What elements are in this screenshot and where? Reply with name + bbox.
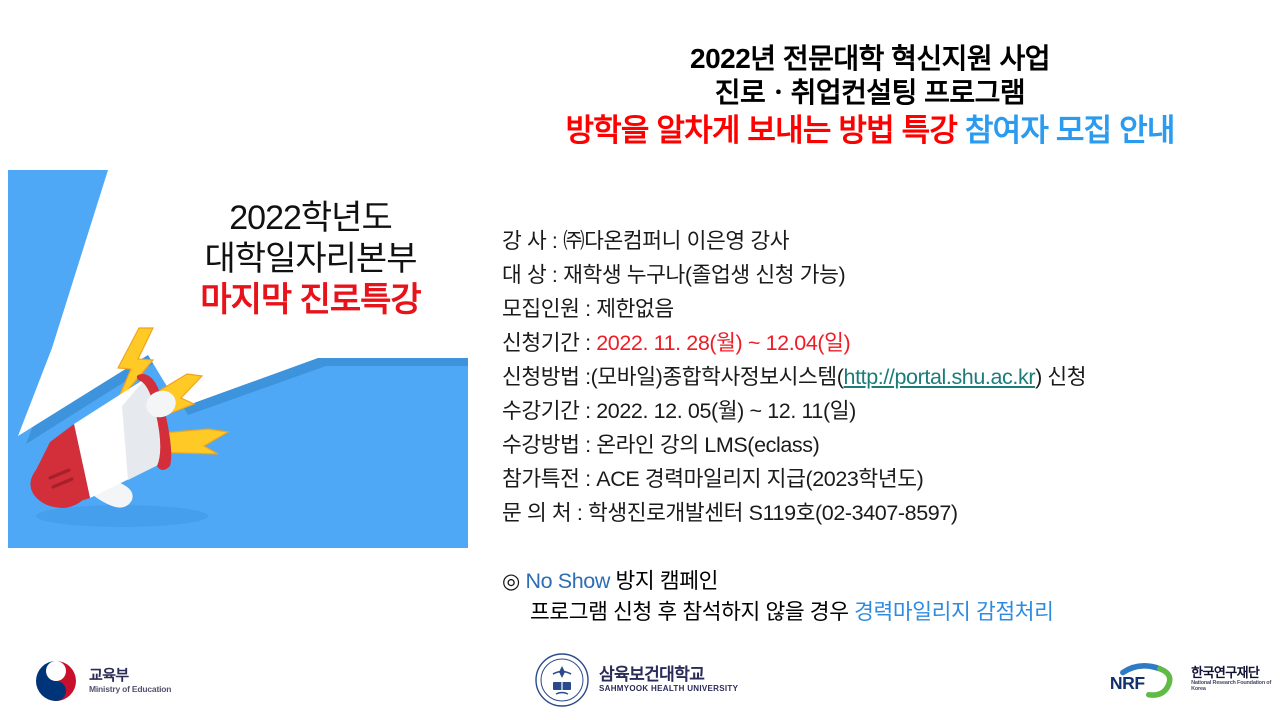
detail-label: 강 사 : — [502, 229, 557, 253]
detail-row: 대 상 : 재학생 누구나(졸업생 신청 가능) — [502, 258, 1222, 292]
header-title-line-1: 2022년 전문대학 혁신지원 사업 — [470, 42, 1270, 76]
detail-value: ㈜다온컴퍼니 이은영 강사 — [563, 229, 789, 253]
detail-label: 참가특전 : — [502, 467, 591, 491]
svg-text:NRF: NRF — [1110, 673, 1145, 693]
nrf-mark-icon: NRF — [1108, 658, 1182, 700]
panel-heading-line-1: 2022학년도 — [158, 198, 463, 239]
header-title-emphasis-red: 방학을 알차게 보내는 방법 특강 — [565, 113, 957, 148]
noshow-title-line: ◎ No Show 방지 캠페인 — [502, 566, 1222, 597]
detail-row: 모집인원 : 제한없음 — [502, 292, 1222, 326]
panel-heading-line-3: 마지막 진로특강 — [158, 280, 463, 321]
noshow-title-highlight: No Show — [526, 569, 610, 593]
logo-label-en: Ministry of Education — [89, 685, 171, 694]
detail-label: 신청기간 : — [502, 331, 591, 355]
portal-link[interactable]: http://portal.shu.ac.kr — [844, 365, 1036, 389]
detail-row: 수강방법 : 온라인 강의 LMS(eclass) — [502, 428, 1222, 462]
detail-value-suffix: ) 신청 — [1035, 365, 1086, 389]
detail-row: 참가특전 : ACE 경력마일리지 지급(2023학년도) — [502, 462, 1222, 496]
detail-value: 2022. 12. 05(월) ~ 12. 11(일) — [596, 399, 856, 423]
logo-national-research-foundation: NRF 한국연구재단 National Research Foundation … — [1108, 658, 1280, 700]
header-title-line-3: 방학을 알차게 보내는 방법 특강 참여자 모집 안내 — [470, 112, 1270, 150]
noshow-title-rest: 방지 캠페인 — [616, 569, 718, 593]
logo-label-ko: 한국연구재단 — [1191, 666, 1280, 680]
detail-row-application-method: 신청방법 :(모바일)종합학사정보시스템(http://portal.shu.a… — [502, 360, 1222, 394]
poster-header: 2022년 전문대학 혁신지원 사업 진로ㆍ취업컨설팅 프로그램 방학을 알차게… — [470, 42, 1270, 150]
detail-label: 수강기간 : — [502, 399, 591, 423]
detail-value: 재학생 누구나(졸업생 신청 가능) — [563, 263, 845, 287]
panel-heading: 2022학년도 대학일자리본부 마지막 진로특강 — [158, 198, 463, 320]
detail-label: 문 의 처 : — [502, 501, 582, 525]
detail-value: 학생진로개발센터 S119호(02-3407-8597) — [588, 501, 958, 525]
logo-sahmyook-health-university: 삼육보건대학교 SAHMYOOK HEALTH UNIVERSITY — [534, 652, 738, 708]
double-circle-bullet-icon: ◎ — [502, 570, 520, 593]
noshow-body-line: 프로그램 신청 후 참석하지 않을 경우 경력마일리지 감점처리 — [502, 597, 1222, 627]
detail-label: 신청방법 : — [502, 365, 591, 389]
noshow-body-prefix: 프로그램 신청 후 참석하지 않을 경우 — [530, 600, 854, 624]
detail-value-highlight: 2022. 11. 28(월) ~ 12.04(일) — [596, 331, 850, 355]
detail-row: 강 사 : ㈜다온컴퍼니 이은영 강사 — [502, 224, 1222, 258]
header-title-emphasis-blue: 참여자 모집 안내 — [965, 113, 1175, 148]
panel-heading-line-2: 대학일자리본부 — [158, 239, 463, 280]
noshow-body-highlight: 경력마일리지 감점처리 — [854, 600, 1053, 624]
detail-label: 대 상 : — [502, 263, 557, 287]
detail-label: 모집인원 : — [502, 297, 591, 321]
megaphone-icon — [22, 320, 252, 535]
detail-row-application-period: 신청기간 : 2022. 11. 28(월) ~ 12.04(일) — [502, 326, 1222, 360]
detail-row: 수강기간 : 2022. 12. 05(월) ~ 12. 11(일) — [502, 394, 1222, 428]
left-illustration-panel: 2022학년도 대학일자리본부 마지막 진로특강 — [8, 170, 468, 548]
detail-label: 수강방법 : — [502, 433, 591, 457]
detail-value-prefix: (모바일)종합학사정보시스템( — [591, 365, 844, 389]
taegeuk-icon — [32, 657, 80, 705]
university-seal-icon — [534, 652, 590, 708]
logo-ministry-of-education: 교육부 Ministry of Education — [32, 657, 171, 705]
detail-row-contact: 문 의 처 : 학생진로개발센터 S119호(02-3407-8597) — [502, 496, 1222, 530]
logo-label-en: National Research Foundation of Korea — [1191, 680, 1280, 692]
logo-label-en: SAHMYOOK HEALTH UNIVERSITY — [599, 685, 738, 694]
logo-label-ko: 삼육보건대학교 — [599, 666, 738, 685]
program-detail-list: 강 사 : ㈜다온컴퍼니 이은영 강사 대 상 : 재학생 누구나(졸업생 신청… — [502, 224, 1222, 530]
noshow-campaign-block: ◎ No Show 방지 캠페인 프로그램 신청 후 참석하지 않을 경우 경력… — [502, 566, 1222, 627]
detail-value: 제한없음 — [596, 297, 674, 321]
header-title-line-2: 진로ㆍ취업컨설팅 프로그램 — [470, 76, 1270, 110]
footer-logo-bar: 교육부 Ministry of Education 삼육보건대학교 SAHMYO… — [0, 648, 1280, 720]
detail-value: 온라인 강의 LMS(eclass) — [596, 433, 819, 457]
detail-value: ACE 경력마일리지 지급(2023학년도) — [596, 467, 923, 491]
logo-label-ko: 교육부 — [89, 668, 171, 685]
